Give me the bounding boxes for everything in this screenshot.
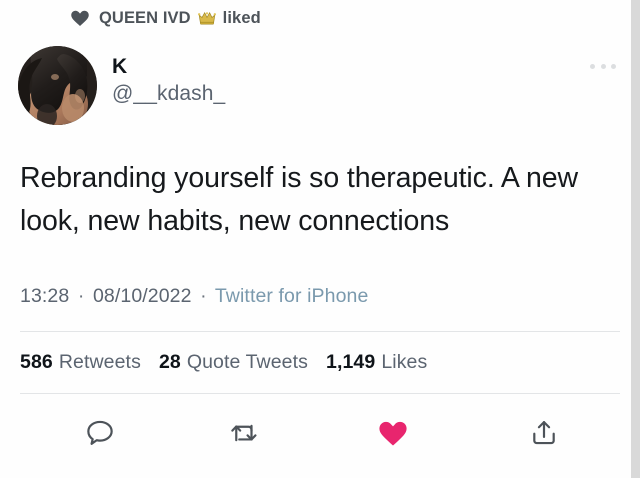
more-dot-1 xyxy=(590,64,595,69)
more-dot-3 xyxy=(611,64,616,69)
tweet-card: QUEEN IVD liked xyxy=(0,0,631,478)
stat-likes-count: 1,149 xyxy=(326,351,375,374)
stat-retweets[interactable]: 586 Retweets xyxy=(20,351,141,374)
more-options-icon[interactable] xyxy=(590,61,616,71)
like-heart-icon xyxy=(377,417,409,449)
liked-by-actor-name: QUEEN IVD xyxy=(99,9,191,28)
tweet-time: 13:28 xyxy=(20,285,69,307)
tweet-meta: 13:28 · 08/10/2022 · Twitter for iPhone xyxy=(20,285,368,308)
meta-separator-1: · xyxy=(75,285,88,307)
crown-emoji xyxy=(197,10,217,26)
divider-below-stats xyxy=(20,393,620,394)
meta-separator-2: · xyxy=(197,285,210,307)
author-row: K @__kdash_ xyxy=(18,46,613,130)
right-edge-strip xyxy=(631,0,640,478)
tweet-stats-row: 586 Retweets 28 Quote Tweets 1,149 Likes xyxy=(20,351,445,374)
avatar[interactable] xyxy=(18,46,97,125)
tweet-actions-row xyxy=(20,405,620,461)
stat-quote-tweets-label: Quote Tweets xyxy=(187,351,308,374)
author-display-name: K xyxy=(112,54,225,80)
share-button[interactable] xyxy=(522,411,566,455)
tweet-screenshot: QUEEN IVD liked xyxy=(0,0,640,478)
stat-quote-tweets[interactable]: 28 Quote Tweets xyxy=(159,351,308,374)
more-dot-2 xyxy=(601,64,606,69)
stat-quote-tweets-count: 28 xyxy=(159,351,181,374)
retweet-icon xyxy=(229,418,259,448)
tweet-text: Rebranding yourself is so therapeutic. A… xyxy=(20,157,620,243)
like-button[interactable] xyxy=(371,411,415,455)
stat-retweets-label: Retweets xyxy=(59,351,141,374)
tweet-client-link[interactable]: Twitter for iPhone xyxy=(215,285,369,307)
liked-by-header: QUEEN IVD liked xyxy=(70,6,261,30)
tweet-date: 08/10/2022 xyxy=(93,285,192,307)
reply-icon xyxy=(85,418,115,448)
liked-by-action-text: liked xyxy=(223,9,261,28)
heart-filled-icon xyxy=(70,8,90,28)
stat-likes[interactable]: 1,149 Likes xyxy=(326,351,427,374)
liked-by-text: QUEEN IVD liked xyxy=(99,9,261,28)
reply-button[interactable] xyxy=(78,411,122,455)
stat-retweets-count: 586 xyxy=(20,351,53,374)
retweet-button[interactable] xyxy=(222,411,266,455)
divider-above-stats xyxy=(20,331,620,332)
stat-likes-label: Likes xyxy=(381,351,427,374)
share-icon xyxy=(529,418,559,448)
author-handle: @__kdash_ xyxy=(112,80,225,108)
author-names[interactable]: K @__kdash_ xyxy=(112,54,225,108)
